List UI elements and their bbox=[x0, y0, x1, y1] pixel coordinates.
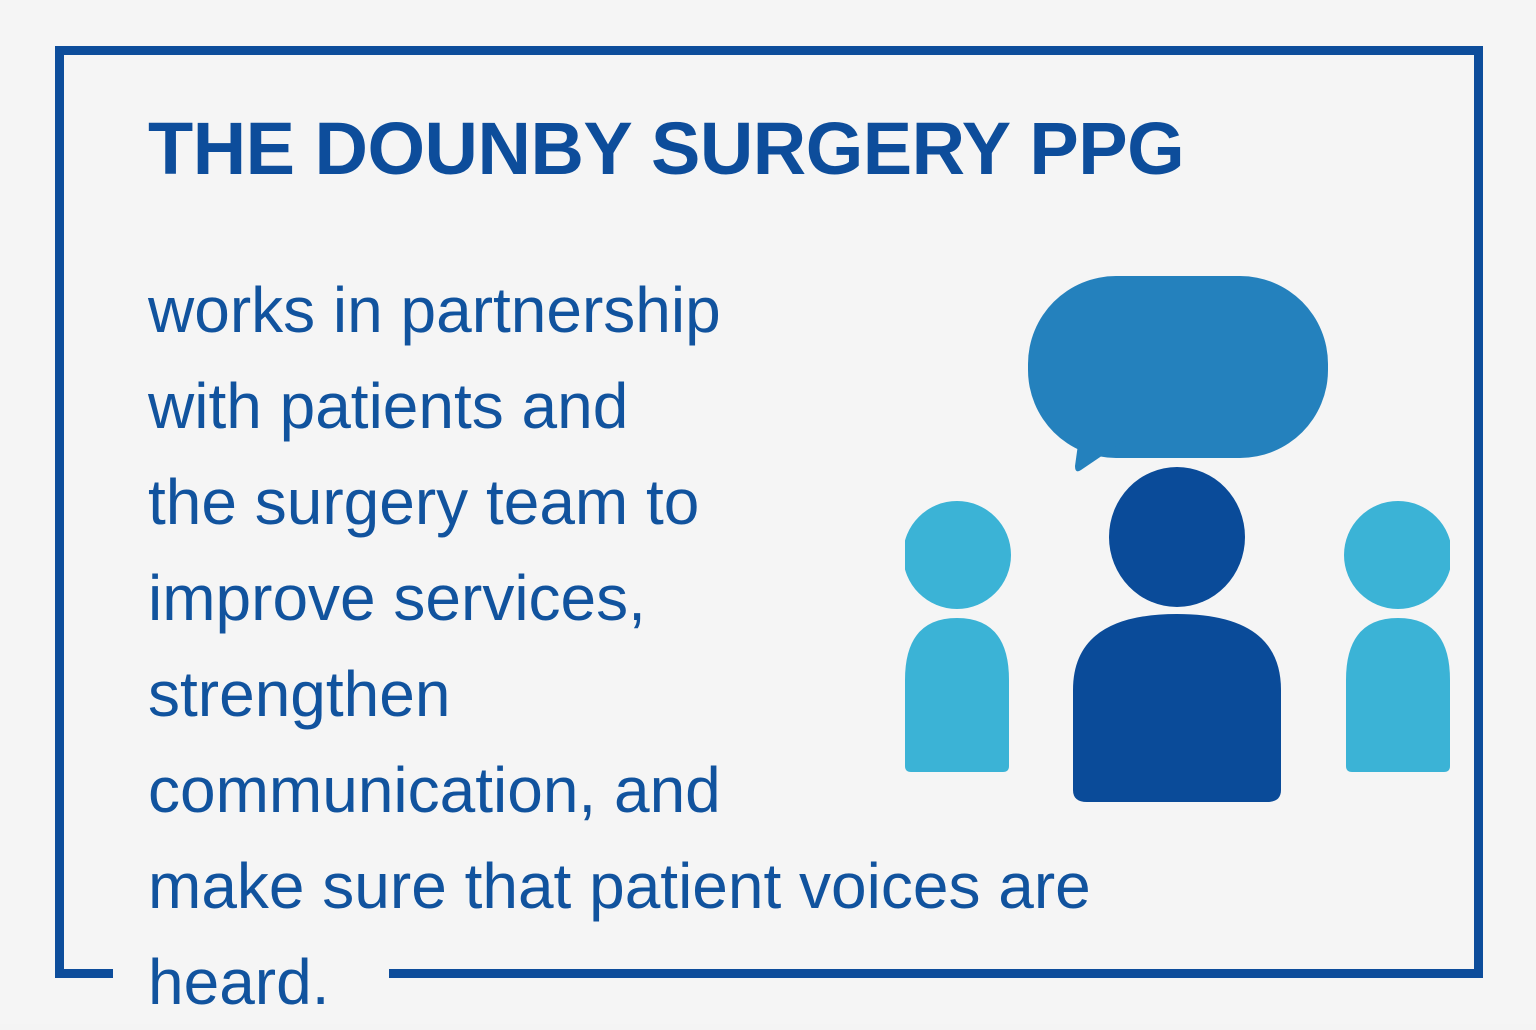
people-group-illustration bbox=[905, 260, 1450, 820]
speech-bubble-icon bbox=[1028, 276, 1328, 471]
poster-card: THE DOUNBY SURGERY PPG works in partners… bbox=[0, 0, 1536, 1024]
person-right-icon bbox=[1344, 501, 1450, 772]
frame-left-border bbox=[55, 46, 64, 978]
body-line: make sure that patient voices are bbox=[148, 838, 1328, 934]
page-title: THE DOUNBY SURGERY PPG bbox=[148, 112, 1438, 186]
frame-right-border bbox=[1474, 46, 1483, 978]
body-line: heard. bbox=[148, 934, 1328, 1030]
person-center-icon bbox=[1073, 467, 1281, 802]
frame-top-border bbox=[55, 46, 1483, 55]
person-left-icon bbox=[905, 501, 1011, 772]
frame-bottom-left-stub bbox=[55, 969, 113, 978]
